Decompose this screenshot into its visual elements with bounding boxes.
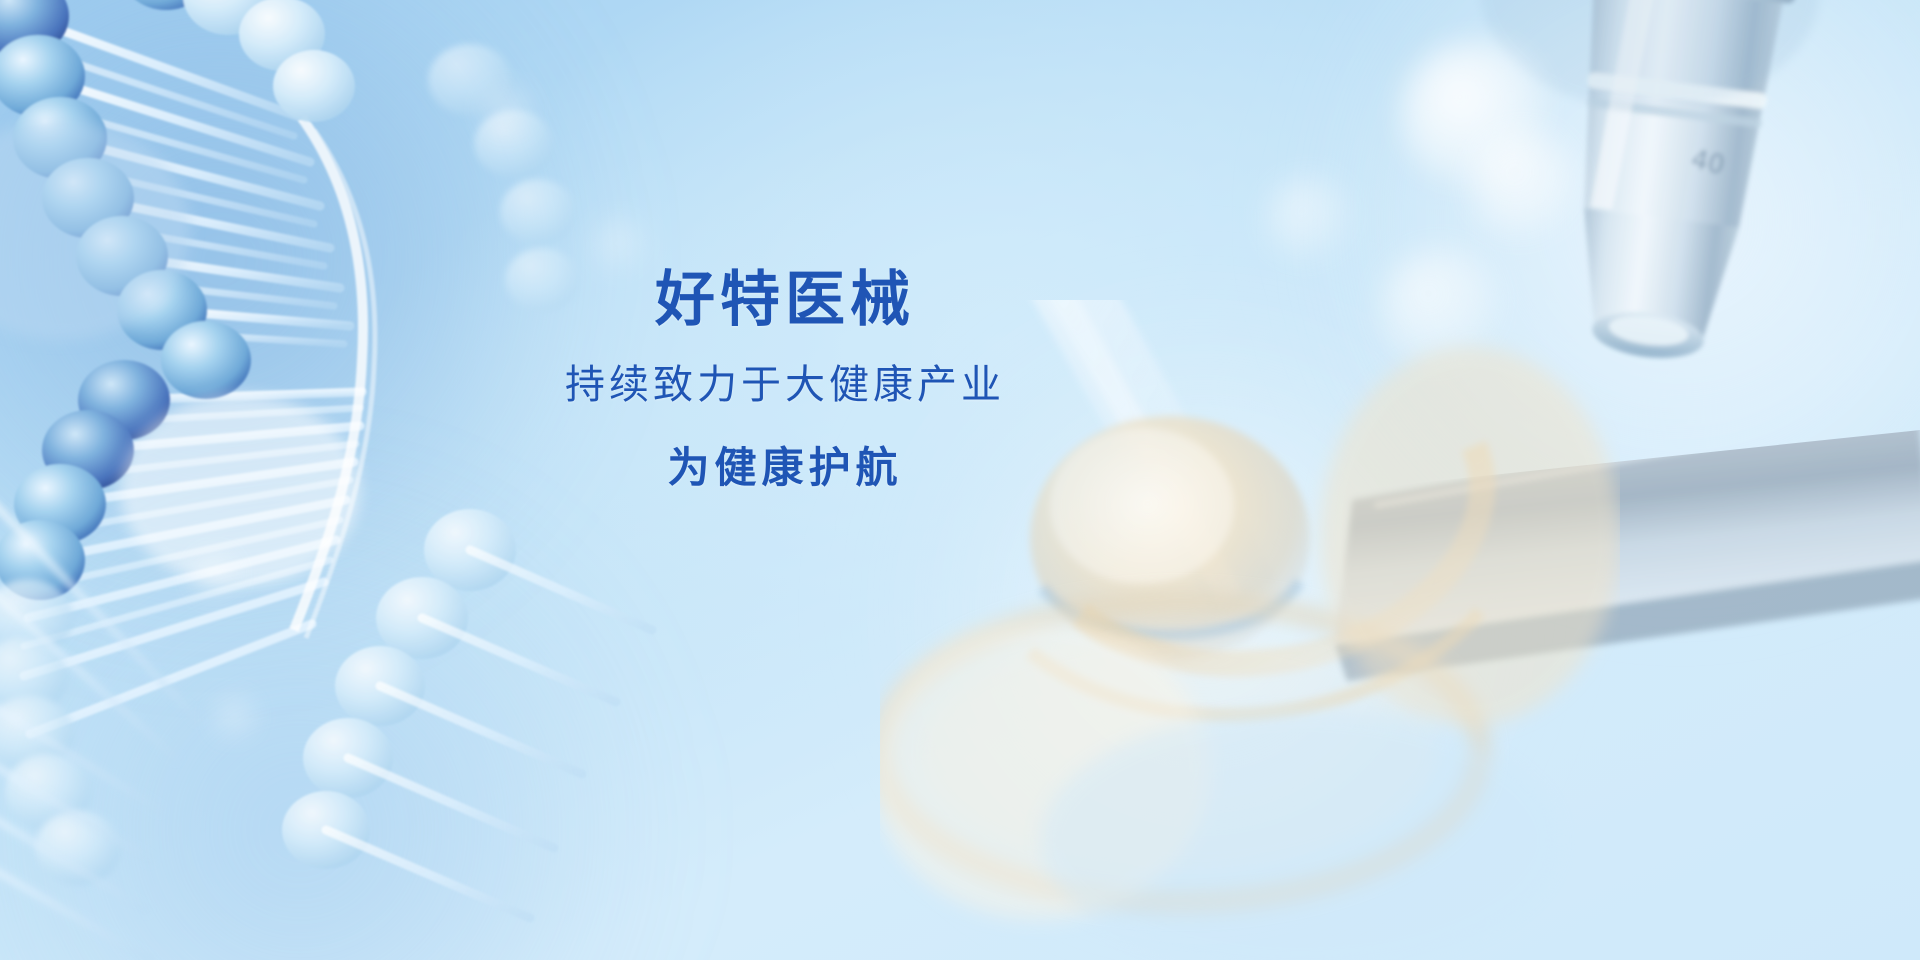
bokeh-circle-2	[1470, 130, 1580, 240]
banner-subtitle: 持续致力于大健康产业	[0, 361, 1570, 409]
bokeh-circle-8	[218, 700, 254, 736]
banner-tagline: 为健康护航	[0, 443, 1570, 493]
bokeh-circle-7	[196, 556, 236, 596]
bokeh-circle-6	[594, 220, 648, 274]
bokeh-circle-5	[486, 90, 532, 136]
bokeh-circle-4	[1266, 176, 1352, 262]
hero-banner: 40	[0, 0, 1920, 960]
banner-title: 好特医械	[0, 268, 1570, 333]
banner-copy: 好特医械 持续致力于大健康产业 为健康护航	[0, 268, 1570, 493]
